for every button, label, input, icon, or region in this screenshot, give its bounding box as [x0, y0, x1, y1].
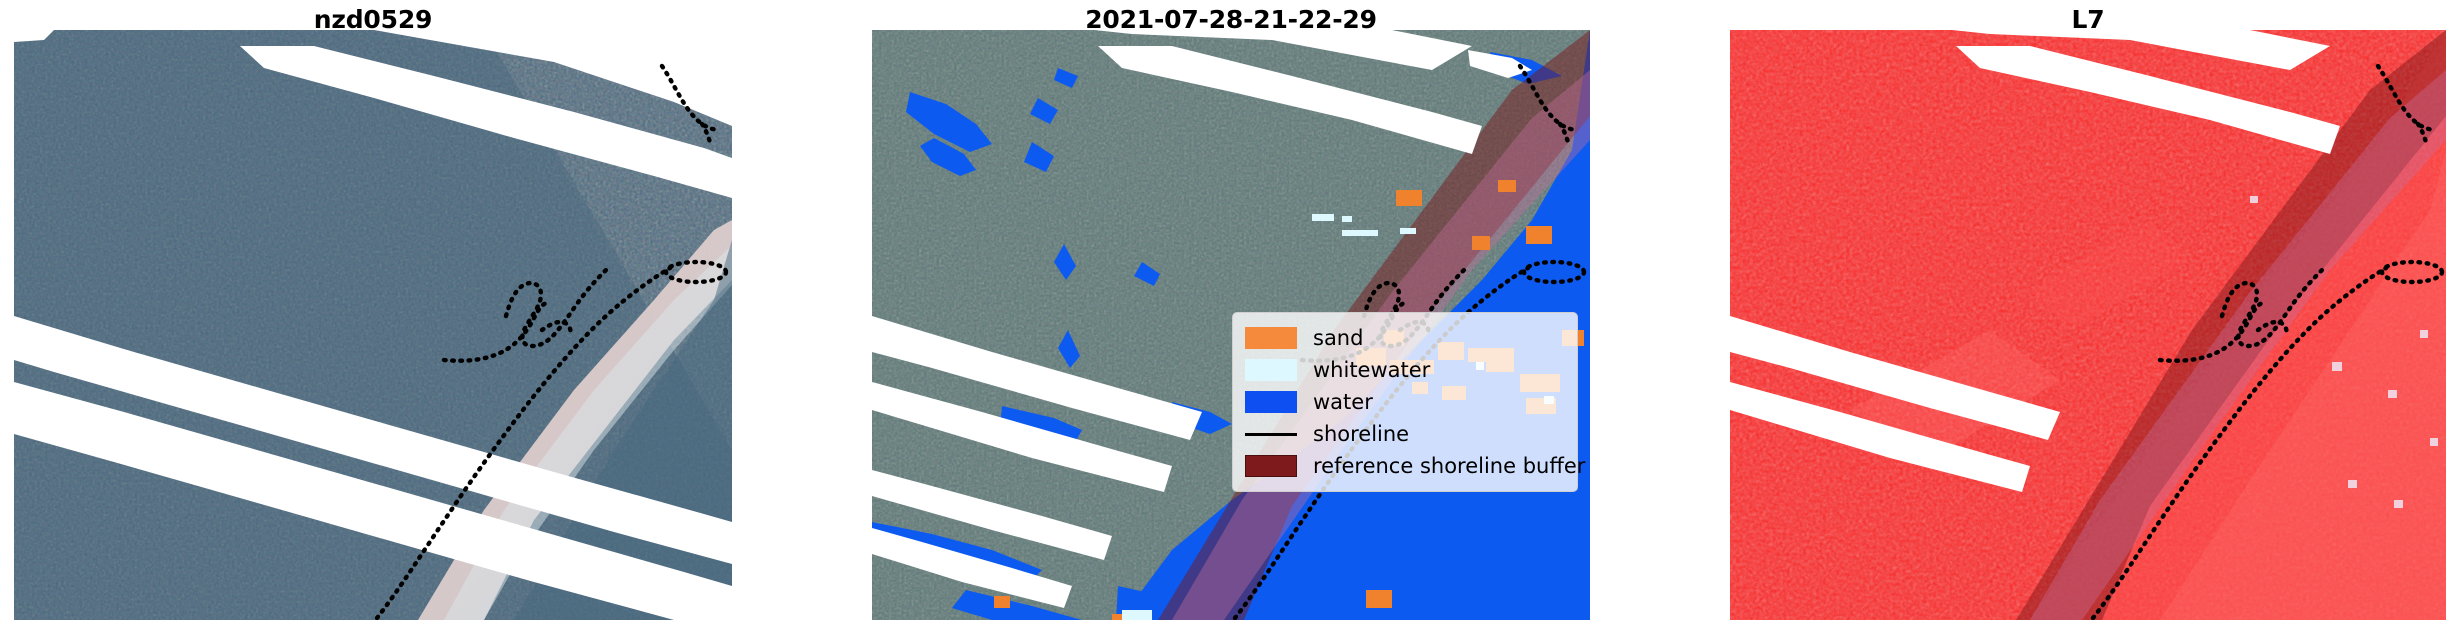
reference-buffer-swatch-icon — [1243, 455, 1299, 477]
water-swatch-icon — [1243, 391, 1299, 413]
panel-rgb: nzd0529 — [14, 0, 732, 633]
sand-swatch-icon — [1243, 327, 1299, 349]
panel-classification: 2021-07-28-21-22-29 — [872, 0, 1590, 633]
legend-row-water: water — [1243, 386, 1567, 418]
legend-row-shoreline: shoreline — [1243, 418, 1567, 450]
legend-row-sand: sand — [1243, 322, 1567, 354]
legend-label-sand: sand — [1313, 327, 1363, 349]
classification-legend: sand whitewater water shoreline — [1232, 312, 1578, 492]
shoreline-line-icon — [1243, 423, 1299, 445]
legend-label-whitewater: whitewater — [1313, 359, 1430, 381]
index-image — [1730, 30, 2446, 620]
rgb-image — [14, 30, 732, 620]
panel-index-axes — [1730, 30, 2446, 620]
whitewater-swatch-icon — [1243, 359, 1299, 381]
legend-row-whitewater: whitewater — [1243, 354, 1567, 386]
legend-label-water: water — [1313, 391, 1373, 413]
figure-canvas: nzd0529 — [0, 0, 2460, 633]
legend-row-reference-buffer: reference shoreline buffer — [1243, 450, 1567, 482]
legend-label-shoreline: shoreline — [1313, 423, 1409, 445]
panel-rgb-axes — [14, 30, 732, 620]
legend-label-reference-buffer: reference shoreline buffer — [1313, 455, 1585, 477]
panel-index: L7 — [1730, 0, 2446, 633]
